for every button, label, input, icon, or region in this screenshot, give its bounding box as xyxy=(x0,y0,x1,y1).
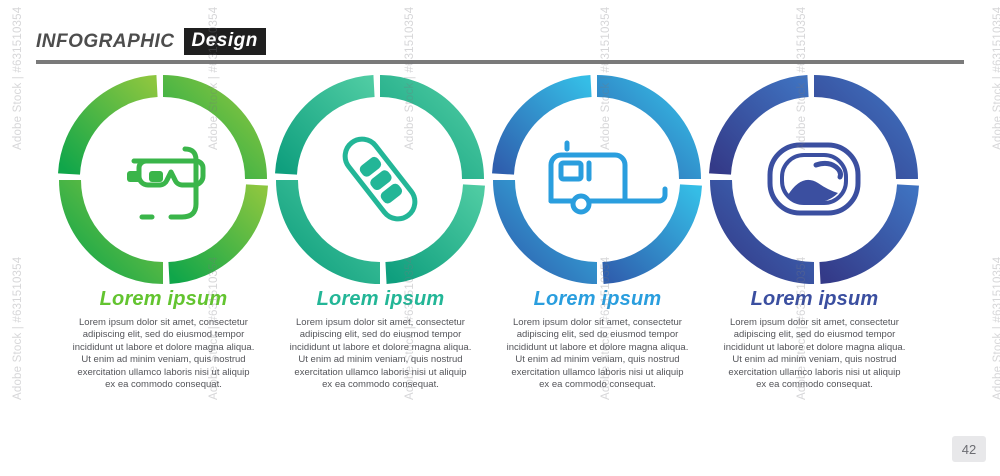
badge-2[interactable] xyxy=(273,72,488,284)
item-title: Lorem ipsum xyxy=(707,288,922,311)
infographic-item: Lorem ipsum Lorem ipsum dolor sit amet, … xyxy=(273,72,488,412)
item-body: Lorem ipsum dolor sit amet, consectetur … xyxy=(72,317,256,391)
item-title: Lorem ipsum xyxy=(56,288,271,311)
badge-4[interactable] xyxy=(707,72,922,284)
page-title: INFOGRAPHIC Design xyxy=(36,28,266,55)
page-number-chip: 42 xyxy=(952,436,986,462)
infographic-columns: Lorem ipsum Lorem ipsum dolor sit amet, … xyxy=(0,72,1000,412)
infographic-item: Lorem ipsum Lorem ipsum dolor sit amet, … xyxy=(707,72,922,412)
badge-1[interactable] xyxy=(56,72,271,284)
page-number: 42 xyxy=(962,442,976,457)
item-title: Lorem ipsum xyxy=(273,288,488,311)
infographic-item: Lorem ipsum Lorem ipsum dolor sit amet, … xyxy=(490,72,705,412)
infographic-item: Lorem ipsum Lorem ipsum dolor sit amet, … xyxy=(56,72,271,412)
item-title: Lorem ipsum xyxy=(490,288,705,311)
page-title-infographic: INFOGRAPHIC xyxy=(36,31,175,53)
item-body: Lorem ipsum dolor sit amet, consectetur … xyxy=(506,317,690,391)
badge-3[interactable] xyxy=(490,72,705,284)
item-body: Lorem ipsum dolor sit amet, consectetur … xyxy=(289,317,473,391)
header-divider xyxy=(36,60,964,64)
page-title-design: Design xyxy=(184,28,266,55)
item-body: Lorem ipsum dolor sit amet, consectetur … xyxy=(723,317,907,391)
